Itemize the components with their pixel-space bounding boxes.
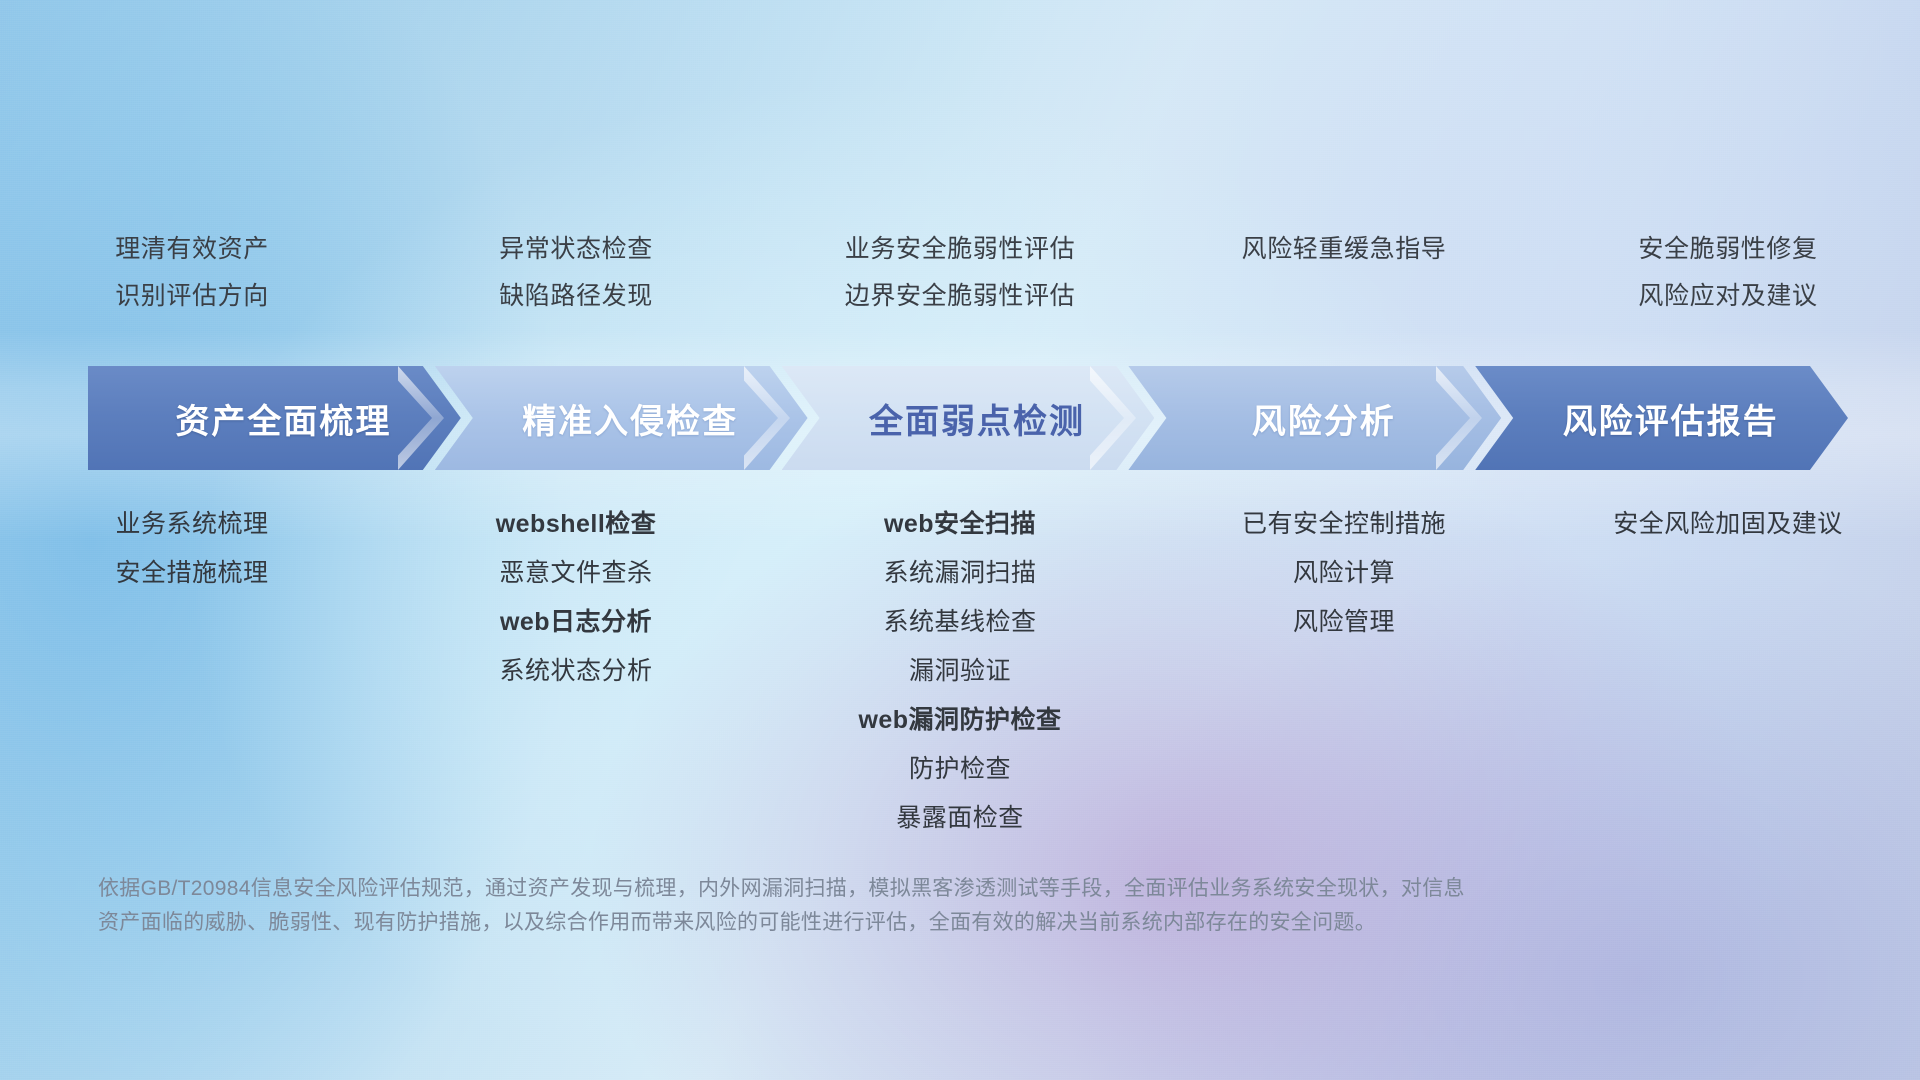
stage-chevron-weakness-detection[interactable]: 全面弱点检测 — [782, 366, 1155, 470]
stage-chevron-asset-inventory[interactable]: 资产全面梳理 — [88, 366, 461, 470]
outcome-text: 边界安全脆弱性评估 — [845, 273, 1075, 320]
activity-text: web漏洞防护检查 — [858, 696, 1061, 745]
outcome-text: 缺陷路径发现 — [499, 273, 653, 320]
footer-line-1: 依据GB/T20984信息安全风险评估规范，通过资产发现与梳理，内外网漏洞扫描，… — [98, 872, 1658, 906]
activity-text: 安全措施梳理 — [115, 549, 268, 598]
stage-chevron-intrusion-check[interactable]: 精准入侵检查 — [435, 366, 808, 470]
outcome-text: 识别评估方向 — [115, 273, 269, 320]
stage-activities-intrusion-check: webshell检查 恶意文件查杀 web日志分析 系统状态分析 — [384, 500, 768, 696]
activity-text: 风险计算 — [1293, 549, 1395, 598]
stage-outcomes-intrusion-check: 异常状态检查 缺陷路径发现 — [384, 226, 768, 336]
stage-outcomes-row: 理清有效资产 识别评估方向 异常状态检查 缺陷路径发现 业务安全脆弱性评估 边界… — [0, 226, 1920, 336]
stage-title: 风险评估报告 — [1545, 394, 1779, 443]
stage-outcomes-risk-report: 安全脆弱性修复 风险应对及建议 — [1536, 226, 1920, 336]
activity-text: 系统漏洞扫描 — [883, 549, 1036, 598]
activity-text: 已有安全控制措施 — [1242, 500, 1446, 549]
activity-text: 安全风险加固及建议 — [1613, 500, 1843, 549]
footer-line-2: 资产面临的威胁、脆弱性、现有防护措施，以及综合作用而带来风险的可能性进行评估，全… — [98, 906, 1658, 940]
activity-text: web安全扫描 — [884, 500, 1036, 549]
outcome-text: 风险轻重缓急指导 — [1242, 226, 1447, 273]
activity-text: web日志分析 — [500, 598, 652, 647]
stage-activities-row: 业务系统梳理 安全措施梳理 webshell检查 恶意文件查杀 web日志分析 … — [0, 500, 1920, 843]
stage-title: 精准入侵检查 — [504, 394, 738, 443]
activity-text: 系统基线检查 — [883, 598, 1036, 647]
outcome-text: 安全脆弱性修复 — [1638, 226, 1817, 273]
stage-chevron-risk-report[interactable]: 风险评估报告 — [1475, 366, 1848, 470]
stage-activities-risk-analysis: 已有安全控制措施 风险计算 风险管理 — [1152, 500, 1536, 647]
footer-description: 依据GB/T20984信息安全风险评估规范，通过资产发现与梳理，内外网漏洞扫描，… — [98, 872, 1658, 940]
stage-title: 全面弱点检测 — [851, 394, 1085, 443]
activity-text: 恶意文件查杀 — [499, 549, 652, 598]
stage-activities-asset-inventory: 业务系统梳理 安全措施梳理 — [0, 500, 384, 598]
stage-title: 风险分析 — [1234, 394, 1396, 443]
activity-text: 暴露面检查 — [896, 794, 1024, 843]
stage-outcomes-weakness-detection: 业务安全脆弱性评估 边界安全脆弱性评估 — [768, 226, 1152, 336]
stage-chevron-risk-analysis[interactable]: 风险分析 — [1128, 366, 1501, 470]
outcome-text: 理清有效资产 — [115, 226, 269, 273]
outcome-text: 异常状态检查 — [499, 226, 653, 273]
activity-text: 风险管理 — [1293, 598, 1395, 647]
process-chevron-band: 资产全面梳理 精准入侵检查 全面弱点检测 风险分析 风险评估报告 — [88, 366, 1848, 470]
activity-text: 系统状态分析 — [499, 647, 652, 696]
stage-activities-risk-report: 安全风险加固及建议 — [1536, 500, 1920, 549]
stage-activities-weakness-detection: web安全扫描 系统漏洞扫描 系统基线检查 漏洞验证 web漏洞防护检查 防护检… — [768, 500, 1152, 843]
stage-outcomes-risk-analysis: 风险轻重缓急指导 — [1152, 226, 1536, 336]
activity-text: 业务系统梳理 — [115, 500, 268, 549]
slide-canvas: 理清有效资产 识别评估方向 异常状态检查 缺陷路径发现 业务安全脆弱性评估 边界… — [0, 0, 1920, 1080]
activity-text: 防护检查 — [909, 745, 1011, 794]
stage-title: 资产全面梳理 — [157, 394, 391, 443]
activity-text: webshell检查 — [496, 500, 657, 549]
outcome-text: 风险应对及建议 — [1638, 273, 1817, 320]
outcome-text: 业务安全脆弱性评估 — [845, 226, 1075, 273]
stage-outcomes-asset-inventory: 理清有效资产 识别评估方向 — [0, 226, 384, 336]
activity-text: 漏洞验证 — [909, 647, 1011, 696]
